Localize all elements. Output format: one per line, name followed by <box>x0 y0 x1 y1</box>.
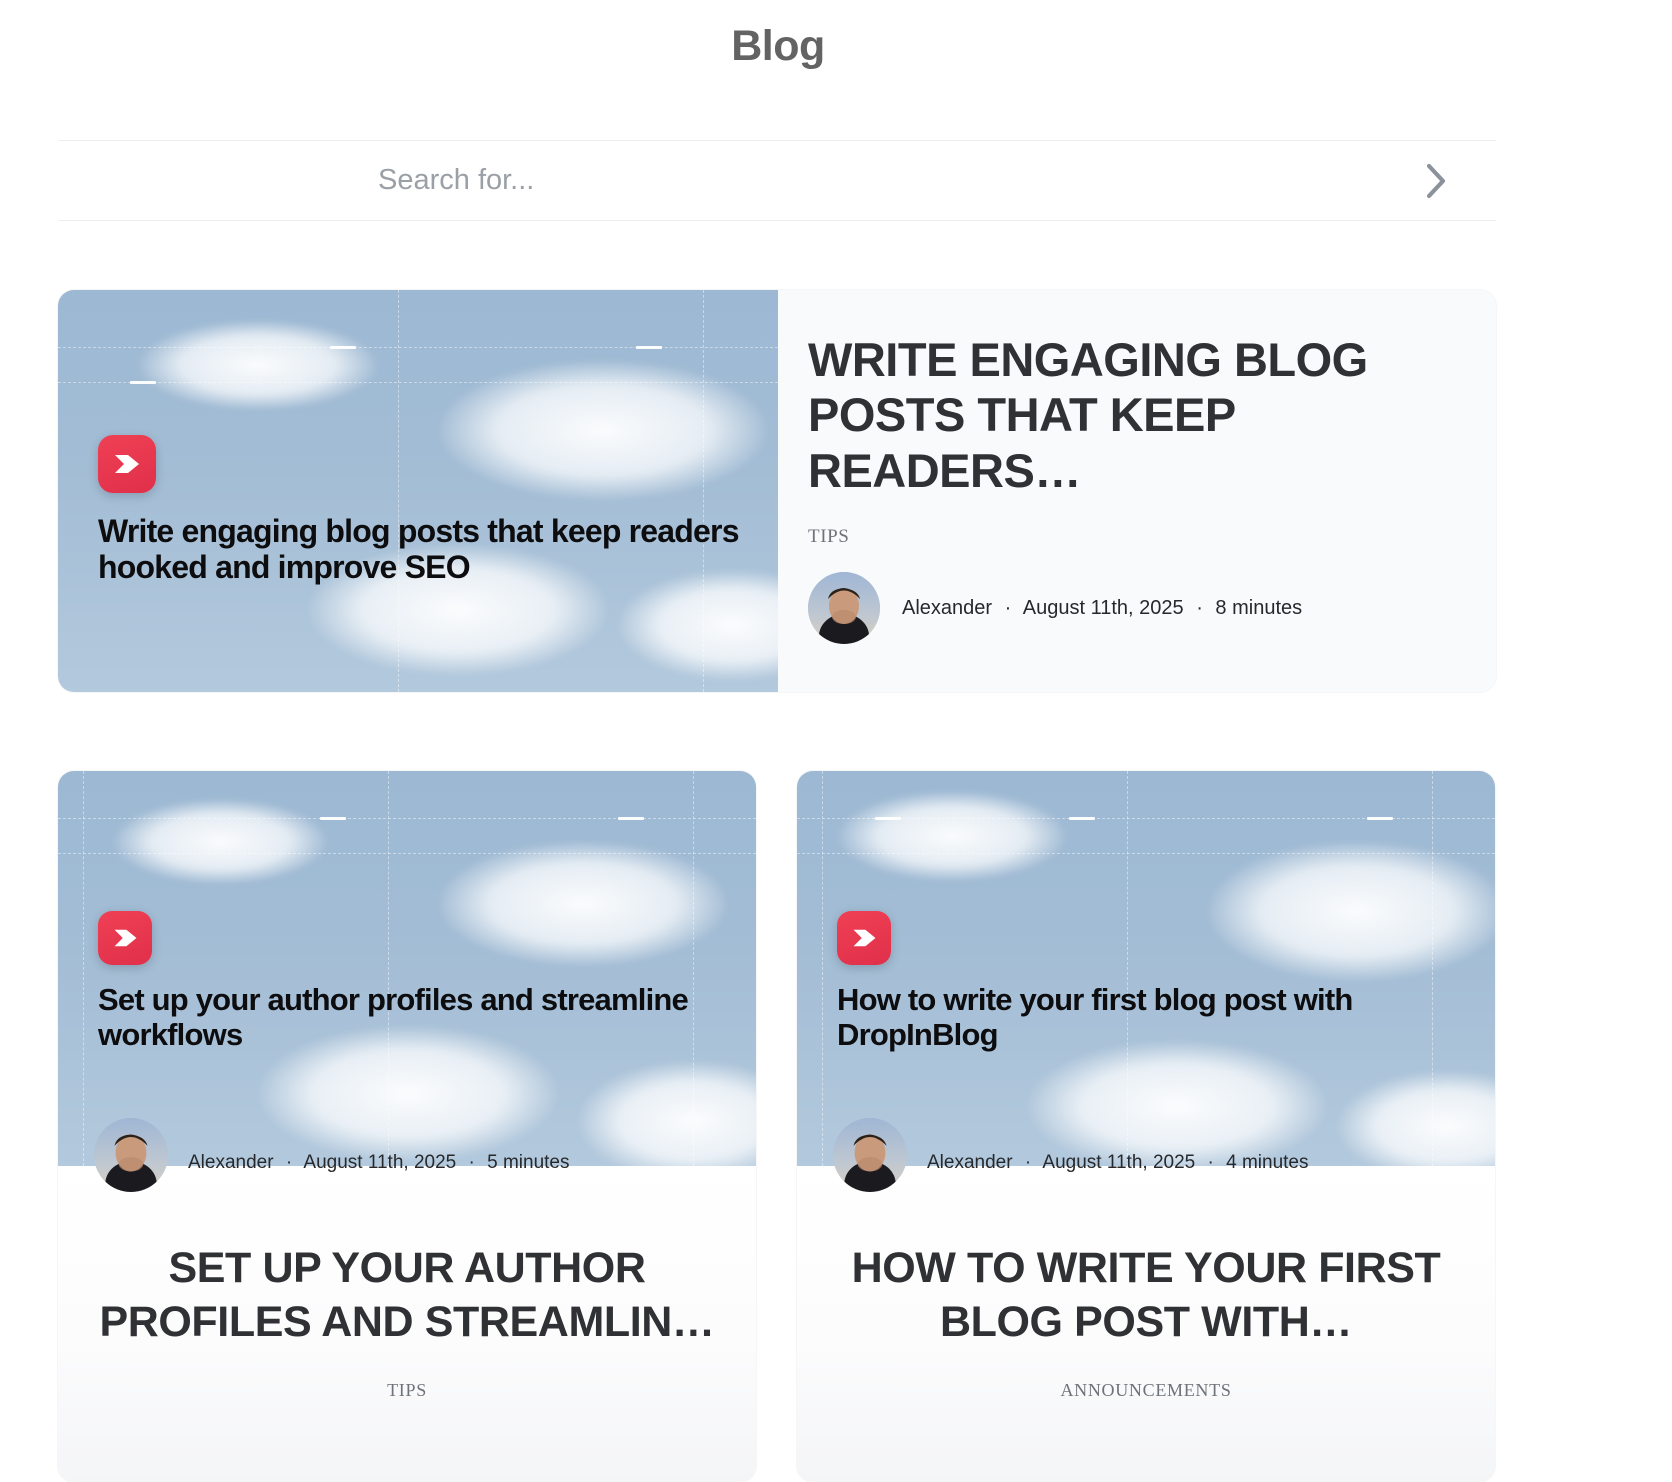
grid-line-horizontal <box>58 853 756 854</box>
cloud-shape <box>837 791 1067 881</box>
grid-tick <box>1367 817 1393 820</box>
chevron-right-icon <box>1423 161 1449 201</box>
post-category: Announcements <box>815 1380 1477 1401</box>
meta-separator: · <box>998 597 1019 619</box>
dropinblog-chevron-logo-icon <box>98 911 152 965</box>
featured-image-title: Write engaging blog posts that keep read… <box>98 514 760 586</box>
meta-separator: · <box>462 1152 482 1173</box>
grid-line-vertical <box>822 771 823 1166</box>
post-image: Set up your author profiles and streamli… <box>58 771 756 1166</box>
grid-line-vertical <box>398 290 399 692</box>
avatar <box>808 572 880 644</box>
grid-tick <box>330 346 356 349</box>
featured-category: Tips <box>808 526 1450 548</box>
post-date: August 11th, 2025 <box>1042 1152 1195 1173</box>
grid-line-vertical <box>1432 771 1433 1166</box>
cloud-shape <box>1207 841 1495 981</box>
meta-separator: · <box>1189 597 1210 619</box>
featured-meta-text: Alexander · August 11th, 2025 · 8 minute… <box>902 597 1302 620</box>
post-image: How to write your first blog post with D… <box>797 771 1495 1166</box>
featured-post-card[interactable]: Write engaging blog posts that keep read… <box>58 290 1496 692</box>
post-headline: How to write your first blog post with… <box>815 1166 1477 1350</box>
post-date: August 11th, 2025 <box>303 1152 456 1173</box>
post-author: Alexander <box>927 1152 1013 1173</box>
search-submit-button[interactable] <box>1376 141 1496 220</box>
meta-separator: · <box>1201 1152 1221 1173</box>
cloud-shape <box>1337 1071 1495 1166</box>
cloud-shape <box>618 570 778 680</box>
avatar <box>94 1118 168 1192</box>
post-card[interactable]: Set up your author profiles and streamli… <box>58 771 756 1482</box>
post-category: Tips <box>76 1380 738 1401</box>
featured-read-time: 8 minutes <box>1215 597 1302 619</box>
post-body: Alexander · August 11th, 2025 · 5 minute… <box>58 1166 756 1482</box>
page-title: Blog <box>0 22 1556 71</box>
grid-line-horizontal <box>58 347 778 348</box>
search-bar[interactable] <box>58 140 1496 221</box>
grid-line-vertical <box>83 771 84 1166</box>
featured-post-body: Write engaging blog posts that keep read… <box>778 290 1496 692</box>
post-read-time: 5 minutes <box>487 1152 569 1173</box>
post-read-time: 4 minutes <box>1226 1152 1308 1173</box>
grid-tick <box>1069 817 1095 820</box>
featured-post-image: Write engaging blog posts that keep read… <box>58 290 778 692</box>
post-author: Alexander <box>188 1152 274 1173</box>
grid-line-vertical <box>388 771 389 1166</box>
grid-line-horizontal <box>797 853 1495 854</box>
meta-separator: · <box>1018 1152 1038 1173</box>
search-input[interactable] <box>58 141 1376 220</box>
grid-tick <box>875 817 901 820</box>
featured-author: Alexander <box>902 597 992 619</box>
post-card[interactable]: How to write your first blog post with D… <box>797 771 1495 1482</box>
cloud-shape <box>438 360 768 500</box>
post-meta-text: Alexander · August 11th, 2025 · 4 minute… <box>927 1152 1309 1174</box>
grid-line-vertical <box>703 290 704 692</box>
grid-line-vertical <box>693 771 694 1166</box>
cloud-shape <box>113 799 328 884</box>
featured-headline: Write engaging blog posts that keep read… <box>808 332 1450 498</box>
featured-meta-row: Alexander · August 11th, 2025 · 8 minute… <box>808 572 1450 644</box>
grid-tick <box>130 381 156 384</box>
cloud-shape <box>578 1061 756 1166</box>
post-headline: Set up your author profiles and streamli… <box>76 1166 738 1350</box>
grid-tick <box>618 817 644 820</box>
grid-tick <box>636 346 662 349</box>
dropinblog-chevron-logo-icon <box>98 435 156 493</box>
post-body: Alexander · August 11th, 2025 · 4 minute… <box>797 1166 1495 1482</box>
post-image-title: How to write your first blog post with D… <box>837 983 1469 1052</box>
grid-line-vertical <box>1127 771 1128 1166</box>
cloud-shape <box>438 841 728 966</box>
avatar <box>833 1118 907 1192</box>
meta-separator: · <box>279 1152 299 1173</box>
featured-date: August 11th, 2025 <box>1023 597 1184 619</box>
grid-line-horizontal <box>58 818 756 819</box>
cloud-shape <box>138 320 378 410</box>
post-meta-text: Alexander · August 11th, 2025 · 5 minute… <box>188 1152 570 1174</box>
post-image-title: Set up your author profiles and streamli… <box>98 983 730 1052</box>
grid-tick <box>320 817 346 820</box>
dropinblog-chevron-logo-icon <box>837 911 891 965</box>
blog-page: Blog <box>0 0 1672 1482</box>
cloud-shape <box>1027 1041 1327 1166</box>
grid-line-horizontal <box>58 382 778 383</box>
